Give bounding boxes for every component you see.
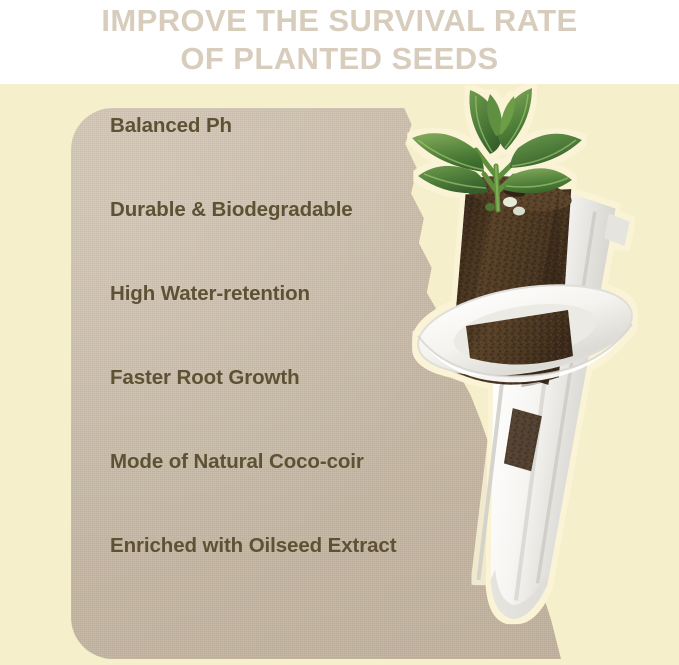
feature-label-durable-biodegradable: Durable & Biodegradable [110, 198, 353, 222]
product-image [392, 80, 679, 640]
page-title-line-1: IMPROVE THE SURVIVAL RATE [101, 3, 577, 38]
feature-label-natural-coco-coir: Mode of Natural Coco-coir [110, 450, 364, 474]
net-pot-rim [412, 272, 638, 389]
product-feature-infographic: Balanced Ph Durable & Biodegradable High… [0, 0, 679, 665]
feature-label-faster-root-growth: Faster Root Growth [110, 366, 300, 390]
page-title-line-2: OF PLANTED SEEDS [0, 40, 679, 78]
header-band: IMPROVE THE SURVIVAL RATE OF PLANTED SEE… [0, 0, 679, 84]
feature-label-balanced-ph: Balanced Ph [110, 114, 232, 138]
page-title: IMPROVE THE SURVIVAL RATE OF PLANTED SEE… [0, 2, 679, 78]
feature-label-oilseed-extract: Enriched with Oilseed Extract [110, 534, 396, 558]
feature-label-high-water-retention: High Water-retention [110, 282, 310, 306]
